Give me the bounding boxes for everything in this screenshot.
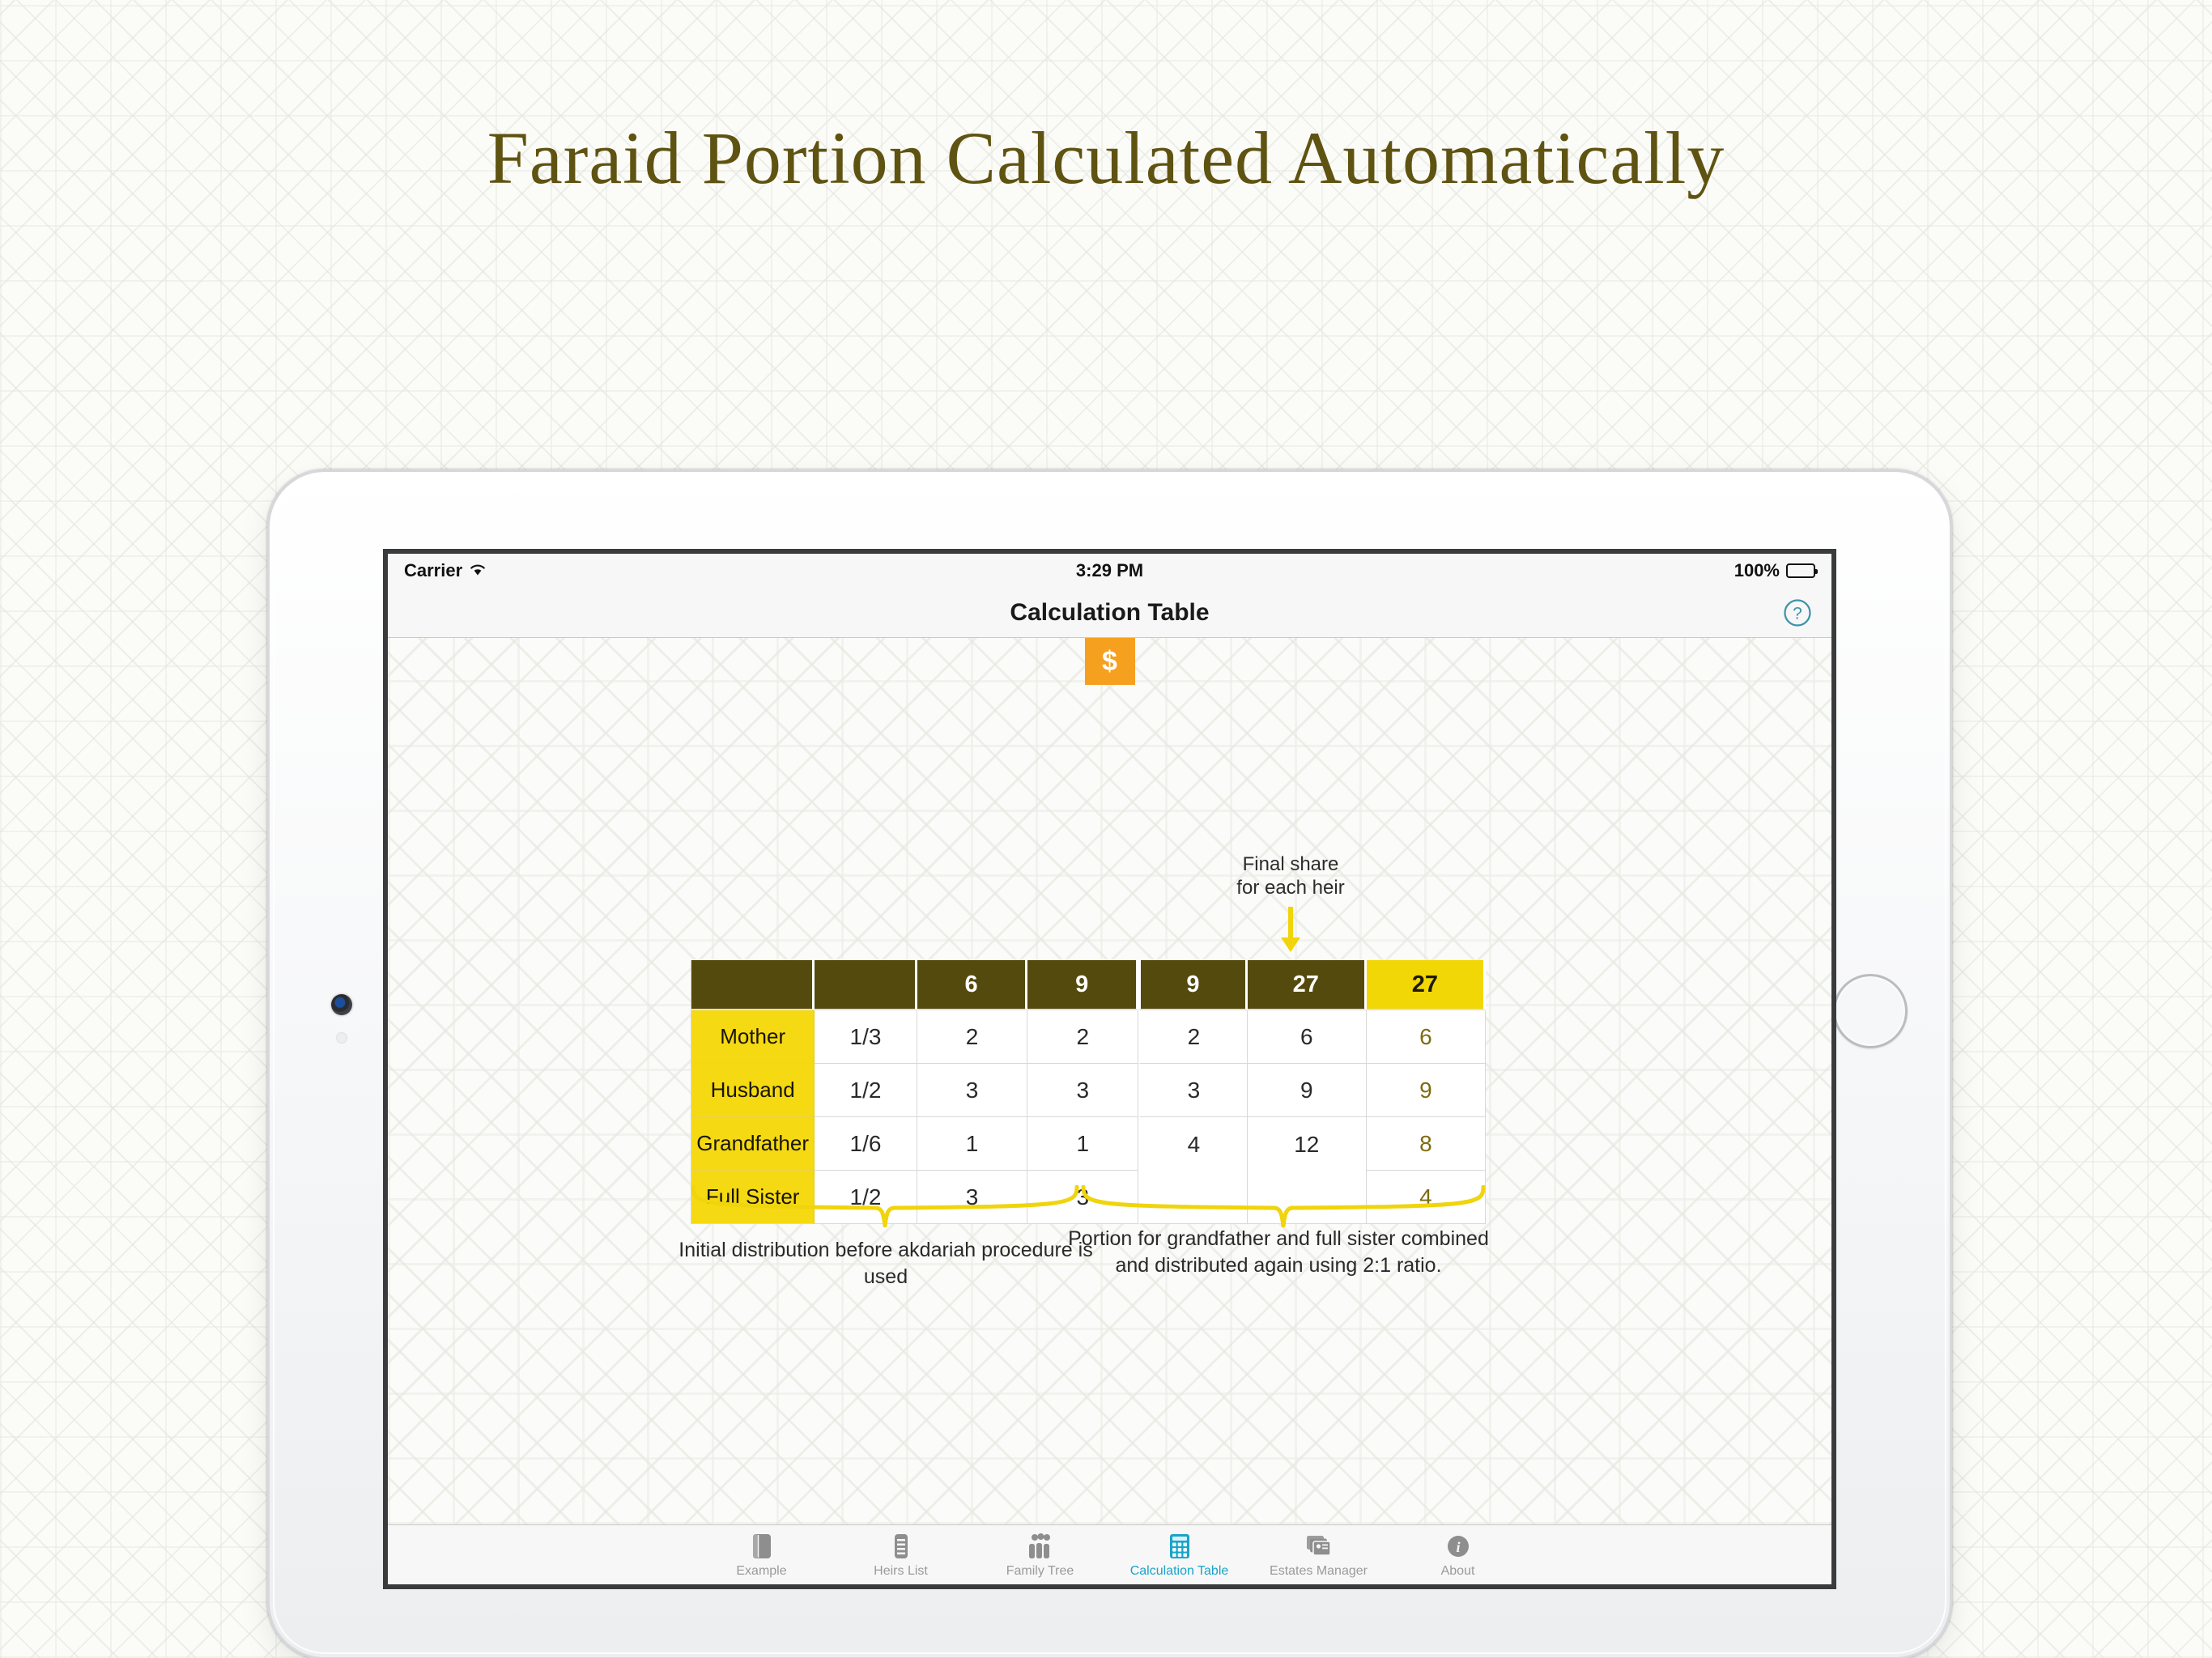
- tab-label: Example: [736, 1564, 786, 1579]
- battery-percent-label: 100%: [1734, 560, 1780, 581]
- header-cell-6: 6: [917, 960, 1028, 1010]
- carrier-label: Carrier: [404, 560, 462, 581]
- tab-label: Estates Manager: [1270, 1564, 1368, 1579]
- navigation-bar: Calculation Table ?: [388, 588, 1831, 638]
- ambient-sensor-icon: [336, 1032, 347, 1044]
- cell-c27a: 6: [1248, 1010, 1367, 1064]
- cell-c9a: 2: [1027, 1010, 1138, 1064]
- cell-share: 1/6: [815, 1117, 917, 1171]
- cell-c27a: 9: [1248, 1064, 1367, 1117]
- cell-final: 6: [1367, 1010, 1486, 1064]
- caption-initial-distribution: Initial distribution before akdariah pro…: [655, 1237, 1117, 1290]
- info-circle-icon: i: [1445, 1532, 1471, 1561]
- cell-heir-name: Grandfather: [691, 1117, 815, 1171]
- cell-c6: 2: [917, 1010, 1028, 1064]
- content-area: $ Final share for each heir 6: [388, 638, 1831, 1524]
- page-title: Calculation Table: [1010, 599, 1209, 627]
- cell-heir-name: Mother: [691, 1010, 815, 1064]
- header-cell-heir: [691, 960, 815, 1010]
- status-right-group: 100%: [1734, 560, 1815, 581]
- final-share-line-2: for each heir: [1202, 876, 1380, 899]
- table-row: Mother 1/3 2 2 2 6 6: [691, 1010, 1486, 1064]
- cell-share: 1/2: [815, 1064, 917, 1117]
- wifi-icon: [469, 560, 487, 581]
- caption-akdariah-redistribution: Portion for grandfather and full sister …: [1068, 1226, 1489, 1278]
- grid-calculator-icon: [1168, 1532, 1192, 1561]
- front-camera-icon: [331, 994, 352, 1015]
- tab-family-tree[interactable]: Family Tree: [971, 1532, 1110, 1579]
- tab-label: Calculation Table: [1130, 1564, 1229, 1579]
- tab-label: Heirs List: [874, 1564, 928, 1579]
- device-screen: Carrier 3:29 PM 100% Calculation Table: [383, 549, 1836, 1589]
- status-left-group: Carrier: [404, 560, 487, 581]
- currency-toggle-button[interactable]: $: [1085, 638, 1135, 685]
- table-row: Grandfather 1/6 1 1 4 12 8: [691, 1117, 1486, 1171]
- cell-c9b: 3: [1138, 1064, 1248, 1117]
- battery-full-icon: [1786, 563, 1815, 578]
- table-row: Husband 1/2 3 3 3 9 9: [691, 1064, 1486, 1117]
- cell-c6: 3: [917, 1064, 1028, 1117]
- tab-label: Family Tree: [1006, 1564, 1074, 1579]
- header-cell-9a: 9: [1027, 960, 1138, 1010]
- header-cell-share: [815, 960, 917, 1010]
- book-icon: [750, 1532, 774, 1561]
- cell-c6: 1: [917, 1117, 1028, 1171]
- cell-share: 1/3: [815, 1010, 917, 1064]
- page-headline: Faraid Portion Calculated Automatically: [0, 115, 2212, 201]
- tab-heirs-list[interactable]: Heirs List: [832, 1532, 971, 1579]
- people-icon: [1025, 1532, 1056, 1561]
- cell-c9b: 2: [1138, 1010, 1248, 1064]
- header-cell-9b: 9: [1138, 960, 1248, 1010]
- final-share-annotation: Final share for each heir: [1202, 852, 1380, 900]
- status-clock: 3:29 PM: [388, 560, 1831, 581]
- tab-bar: Example Heirs List: [388, 1524, 1831, 1584]
- curly-brace-right-icon: [1081, 1185, 1486, 1227]
- cell-c9a: 1: [1027, 1117, 1138, 1171]
- home-button[interactable]: [1833, 974, 1908, 1048]
- cell-c9a: 3: [1027, 1064, 1138, 1117]
- arrow-down-icon: [1277, 905, 1304, 954]
- table-header-row: 6 9 9 27 27: [691, 960, 1486, 1010]
- list-icon: [891, 1532, 912, 1561]
- tab-label: About: [1441, 1564, 1475, 1579]
- curly-brace-left-icon: [691, 1185, 1079, 1227]
- header-cell-final-27: 27: [1367, 960, 1486, 1010]
- tab-estates-manager[interactable]: Estates Manager: [1249, 1532, 1389, 1579]
- tab-about[interactable]: i About: [1389, 1532, 1528, 1579]
- cell-heir-name: Husband: [691, 1064, 815, 1117]
- tab-example[interactable]: Example: [692, 1532, 832, 1579]
- final-share-line-1: Final share: [1202, 852, 1380, 876]
- svg-text:i: i: [1456, 1539, 1460, 1555]
- cell-final: 9: [1367, 1064, 1486, 1117]
- cards-icon: [1304, 1532, 1334, 1561]
- status-bar: Carrier 3:29 PM 100%: [388, 554, 1831, 588]
- ipad-device-frame: Carrier 3:29 PM 100% Calculation Table: [270, 472, 1950, 1657]
- header-cell-27a: 27: [1248, 960, 1367, 1010]
- tab-calculation-table[interactable]: Calculation Table: [1110, 1532, 1249, 1579]
- question-mark-circle-icon[interactable]: ?: [1781, 597, 1814, 629]
- cell-final: 8: [1367, 1117, 1486, 1171]
- svg-text:?: ?: [1793, 604, 1802, 623]
